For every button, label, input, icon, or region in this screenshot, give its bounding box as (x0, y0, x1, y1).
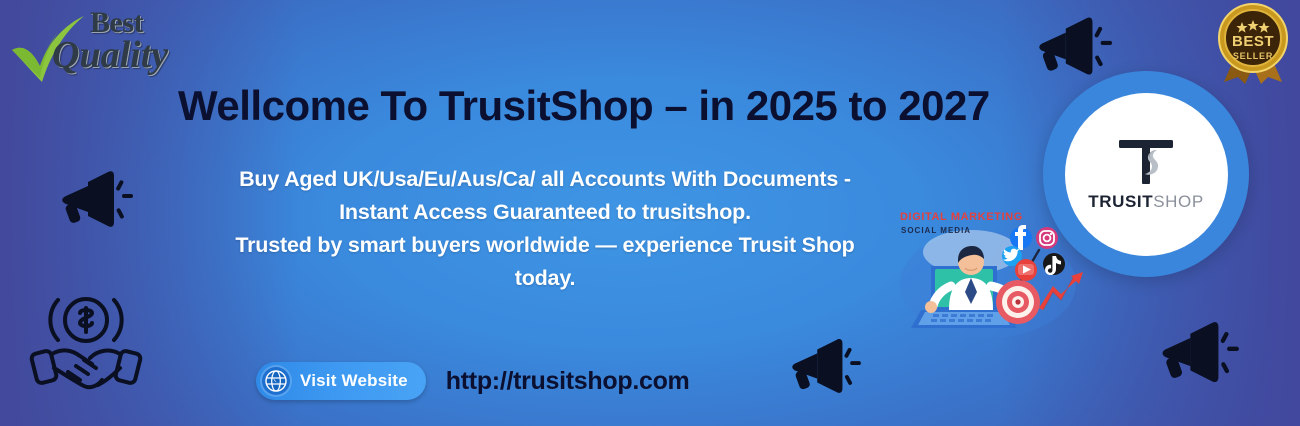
best-seller-line1: BEST (1232, 33, 1274, 50)
brand-logo-wordmark: TRUSITSHOP (1088, 192, 1204, 212)
visit-website-button[interactable]: Visit Website (256, 362, 426, 400)
megaphone-icon (58, 166, 134, 230)
wordmark-light: SHOP (1153, 192, 1204, 211)
best-quality-text: Best Quality (34, 8, 184, 74)
globe-icon (262, 367, 290, 395)
illustration-subtitle: SOCIAL MEDIA (901, 226, 971, 235)
megaphone-icon (788, 334, 862, 396)
megaphone-icon (1158, 316, 1240, 386)
subheadline-line-1: Buy Aged UK/Usa/Eu/Aus/Ca/ all Accounts … (150, 163, 940, 196)
target-dartboard (996, 280, 1040, 324)
best-quality-badge: Best Quality (8, 6, 178, 90)
page-title: Wellcome To TrusitShop – in 2025 to 2027 (178, 82, 1008, 130)
megaphone-icon (1035, 12, 1113, 78)
subheadline-line-2: Instant Access Guaranteed to trusitshop. (150, 196, 940, 229)
handshake-dollar-icon (24, 288, 148, 398)
wordmark-bold: TRUSIT (1088, 192, 1153, 211)
subheadline-line-3: Trusted by smart buyers worldwide — expe… (150, 229, 940, 262)
illustration-title: DIGITAL MARKETING (900, 211, 1023, 223)
visit-website-label: Visit Website (300, 371, 408, 391)
best-seller-line2: SELLER (1233, 51, 1273, 61)
subheadline: Buy Aged UK/Usa/Eu/Aus/Ca/ all Accounts … (150, 163, 940, 295)
digital-marketing-illustration: DIGITAL MARKETING SOCIAL MEDIA (893, 206, 1093, 344)
subheadline-line-4: today. (150, 262, 940, 295)
trusit-monogram-icon (1115, 136, 1177, 186)
best-seller-badge: BEST SELLER (1214, 2, 1292, 84)
best-quality-line2: Quality (52, 36, 184, 74)
cta-row: Visit Website http://trusitshop.com (256, 362, 689, 400)
website-url-link[interactable]: http://trusitshop.com (446, 367, 690, 396)
promo-banner: Best Quality BEST SELLER (0, 0, 1300, 426)
